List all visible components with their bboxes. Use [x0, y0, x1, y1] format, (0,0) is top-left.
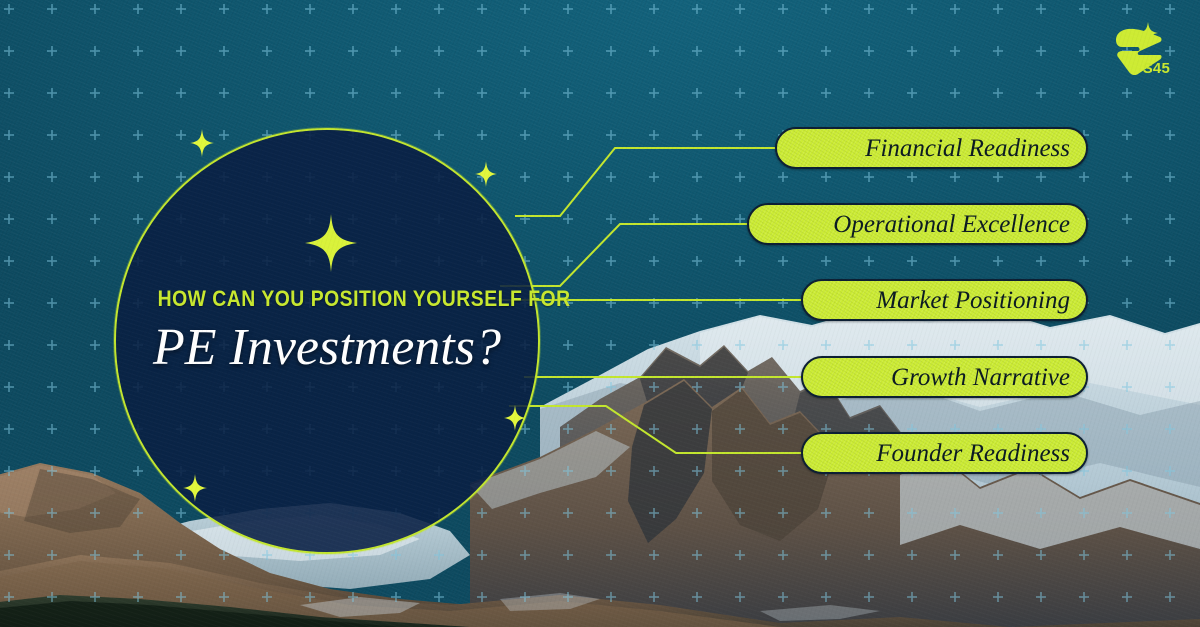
pill-label: Financial Readiness — [865, 136, 1070, 161]
pill-label: Operational Excellence — [833, 212, 1070, 237]
brand-logo[interactable]: S45 — [1104, 20, 1182, 78]
pill-growth-narrative[interactable]: Growth Narrative — [801, 356, 1088, 398]
pill-market-positioning[interactable]: Market Positioning — [801, 279, 1088, 321]
pill-founder-readiness[interactable]: Founder Readiness — [801, 432, 1088, 474]
hero-kicker: HOW CAN YOU POSITION YOURSELF FOR — [158, 288, 497, 311]
infographic-canvas: HOW CAN YOU POSITION YOURSELF FOR PE Inv… — [0, 0, 1200, 627]
hero-text-block: HOW CAN YOU POSITION YOURSELF FOR PE Inv… — [116, 288, 538, 374]
pill-label: Growth Narrative — [891, 365, 1070, 390]
pill-operational-excellence[interactable]: Operational Excellence — [747, 203, 1088, 245]
pill-financial-readiness[interactable]: Financial Readiness — [775, 127, 1088, 169]
pill-label: Founder Readiness — [876, 441, 1070, 466]
hero-circle: HOW CAN YOU POSITION YOURSELF FOR PE Inv… — [114, 128, 540, 554]
pill-label: Market Positioning — [876, 288, 1070, 313]
logo-wordmark: S45 — [1143, 61, 1170, 76]
hero-headline: PE Investments? — [130, 322, 524, 374]
